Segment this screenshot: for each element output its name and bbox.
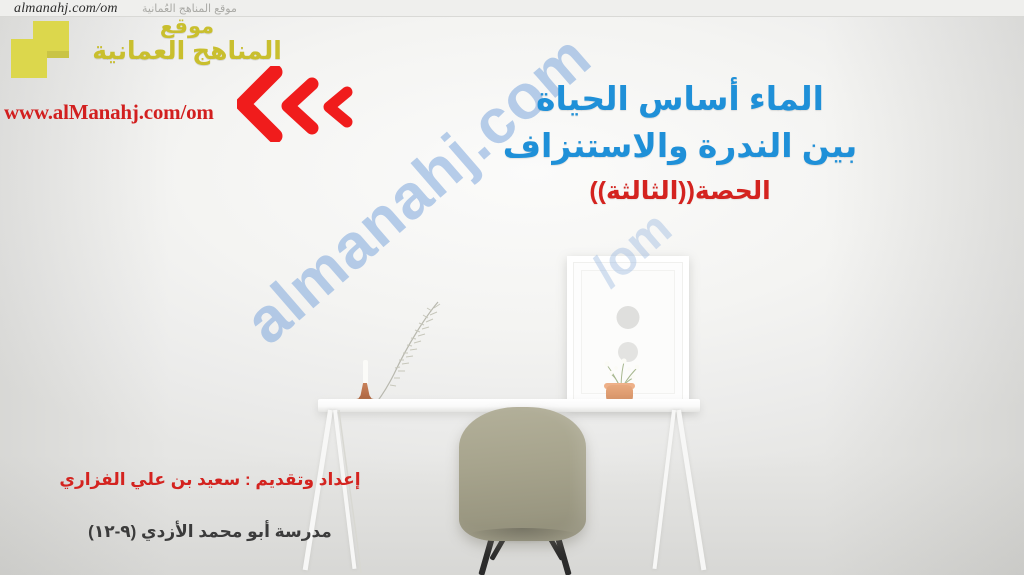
triple-left-chevron-icon	[237, 66, 357, 142]
frame-circle-upper	[617, 306, 640, 329]
olive-shell-chair	[459, 407, 586, 541]
dried-branch	[368, 300, 442, 404]
logo-square-lower	[11, 39, 47, 78]
candle-wax	[363, 360, 368, 385]
page-title-line-2: بين الندرة والاستنزاف	[380, 123, 980, 170]
logo-line-1: موقع	[72, 16, 302, 38]
header-url: almanahj.com/om	[14, 1, 118, 17]
page-title-line-1: الماء أساس الحياة	[380, 76, 980, 123]
school-credit: مدرسة أبو محمد الأزدي (٩-١٢)	[0, 522, 420, 542]
logo-website-url[interactable]: www.alManahj.com/om	[4, 100, 214, 125]
almanahj-logo-mark	[11, 21, 69, 78]
hanging-cable	[335, 410, 375, 575]
title-block: الماء أساس الحياة بين الندرة والاستنزاف …	[380, 76, 980, 206]
logo-arabic-text: موقع المناهج العمانية	[72, 16, 302, 64]
presentation-slide: almanahj.com /om almanahj.com/om موقع ال…	[0, 0, 1024, 575]
lesson-number-label: الحصة((الثالثة))	[380, 176, 980, 206]
presenter-credit: إعداد وتقديم : سعيد بن علي الفزاري	[0, 470, 420, 490]
logo-bar	[47, 51, 69, 58]
header-site-name: موقع المناهج العُمانية	[142, 2, 237, 15]
logo-line-2: المناهج العمانية	[72, 38, 302, 64]
